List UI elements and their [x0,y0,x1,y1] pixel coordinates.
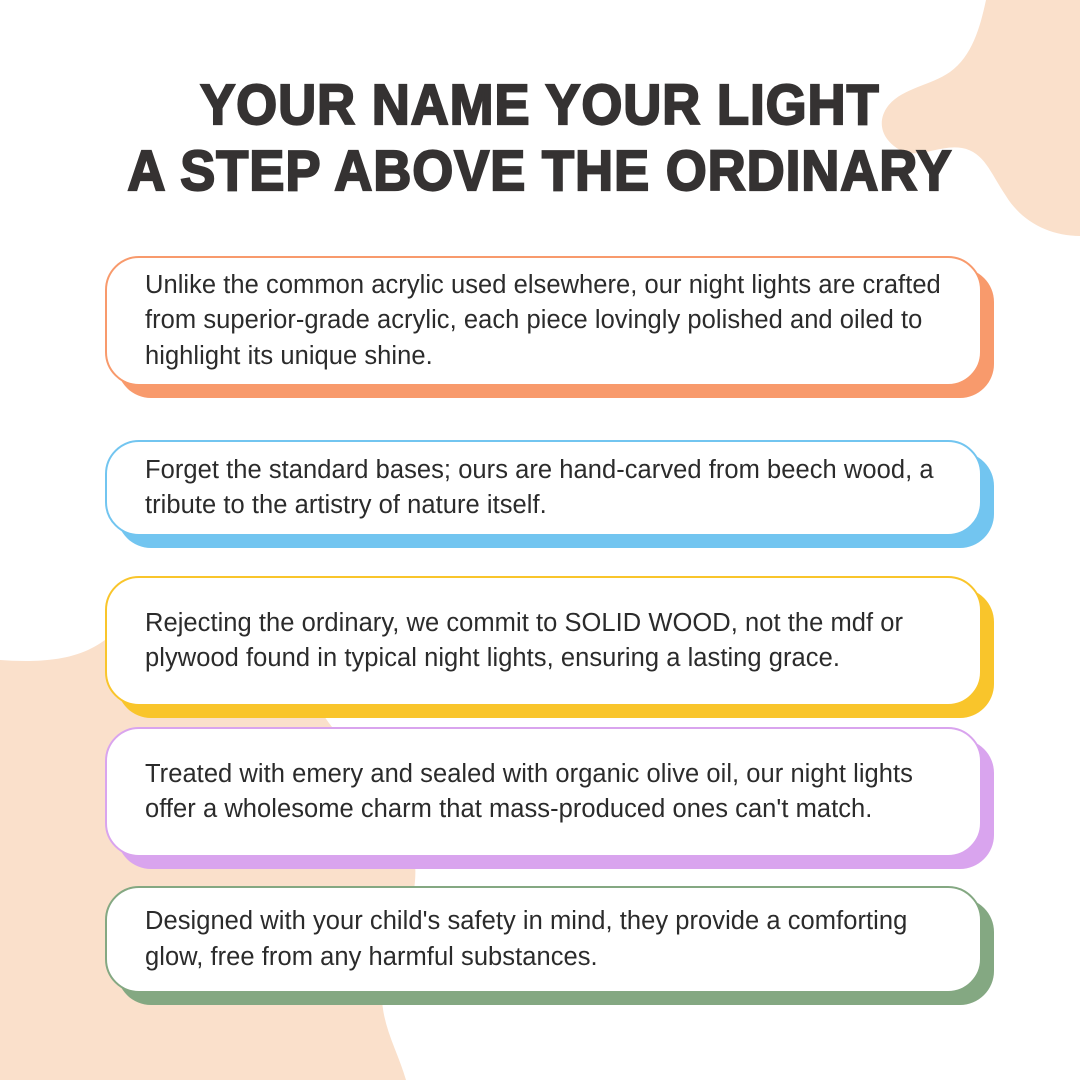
card-panel-purple: Treated with emery and sealed with organ… [105,727,982,857]
card-panel-orange: Unlike the common acrylic used elsewhere… [105,256,982,386]
poster-canvas: YOUR NAME YOUR LIGHT A STEP ABOVE THE OR… [0,0,1080,1080]
card-text-blue: Forget the standard bases; ours are hand… [107,453,980,524]
card-panel-blue: Forget the standard bases; ours are hand… [105,440,982,536]
card-text-yellow: Rejecting the ordinary, we commit to SOL… [107,606,980,677]
card-panel-yellow: Rejecting the ordinary, we commit to SOL… [105,576,982,706]
page-title-line-2: A STEP ABOVE THE ORDINARY [43,138,1037,204]
feature-card-orange: Unlike the common acrylic used elsewhere… [105,256,982,386]
card-text-purple: Treated with emery and sealed with organ… [107,757,980,828]
card-panel-green: Designed with your child's safety in min… [105,886,982,993]
page-title: YOUR NAME YOUR LIGHT A STEP ABOVE THE OR… [0,72,1080,204]
card-text-green: Designed with your child's safety in min… [107,904,980,975]
feature-card-green: Designed with your child's safety in min… [105,886,982,993]
page-title-line-1: YOUR NAME YOUR LIGHT [43,72,1037,138]
feature-card-blue: Forget the standard bases; ours are hand… [105,440,982,536]
feature-card-purple: Treated with emery and sealed with organ… [105,727,982,857]
card-text-orange: Unlike the common acrylic used elsewhere… [107,268,980,375]
feature-card-yellow: Rejecting the ordinary, we commit to SOL… [105,576,982,706]
